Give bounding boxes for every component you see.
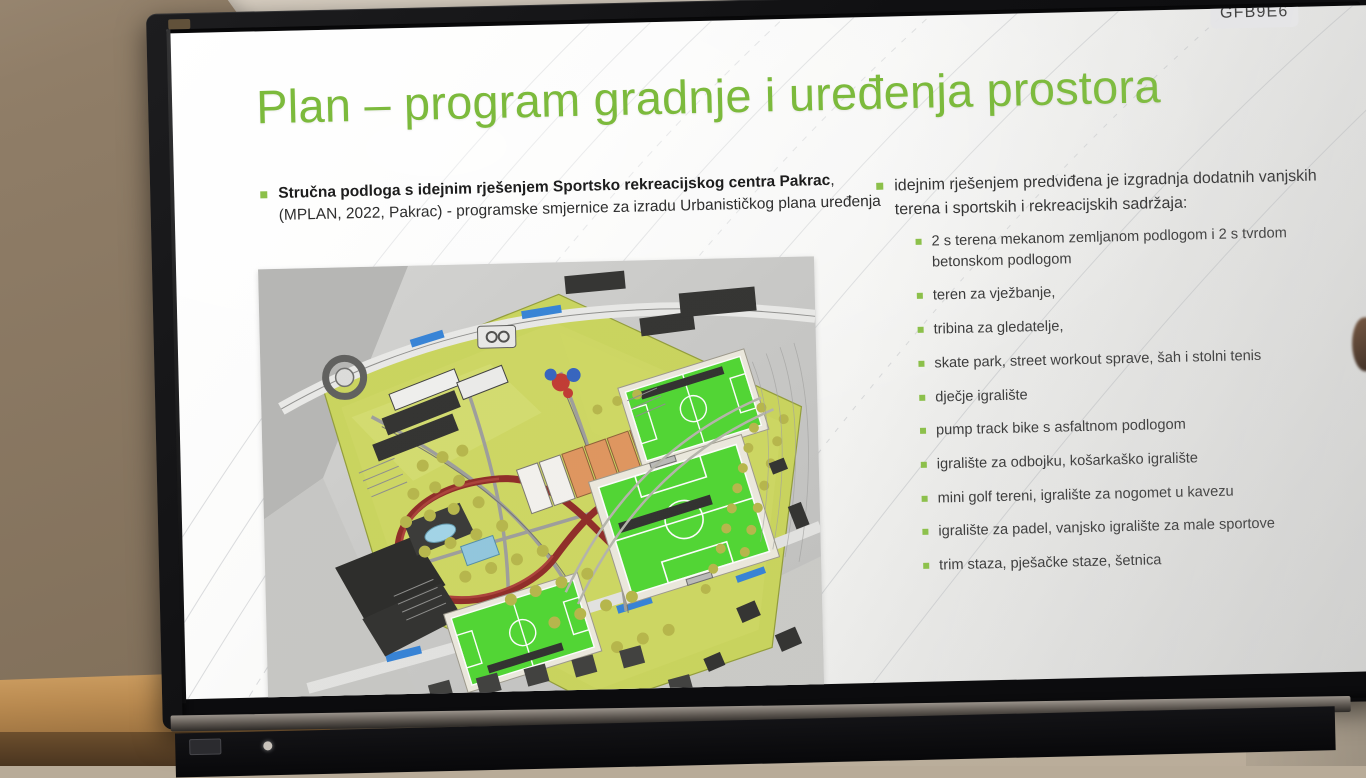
sub-bullet-text: mini golf tereni, igralište za nogomet u…	[937, 481, 1233, 509]
tv-port	[189, 738, 221, 755]
bullet-square-icon	[922, 495, 928, 501]
bullet-square-icon	[918, 361, 924, 367]
list-item: 2 s terena mekanom zemljanom podlogom i …	[915, 222, 1340, 273]
right-sub-bullet-list: 2 s terena mekanom zemljanom podlogom i …	[915, 222, 1347, 577]
presentation-slide: Plan – program gradnje i uređenja prosto…	[170, 5, 1366, 699]
list-item: tribina za gledatelje,	[917, 310, 1341, 341]
site-plan-image	[258, 256, 825, 699]
list-item: skate park, street workout sprave, šah i…	[918, 344, 1342, 375]
list-item: igralište za odbojku, košarkaško igrališ…	[921, 445, 1345, 476]
list-item: dječje igralište	[919, 377, 1343, 408]
bullet-square-icon	[260, 191, 267, 198]
tv-bezel-corner-mark	[168, 19, 190, 30]
bullet-square-icon	[876, 183, 883, 190]
sub-bullet-text: tribina za gledatelje,	[933, 317, 1063, 341]
sub-bullet-text: 2 s terena mekanom zemljanom podlogom i …	[931, 222, 1340, 273]
bullet-square-icon	[921, 462, 927, 468]
list-item: teren za vježbanje,	[917, 276, 1341, 307]
sub-bullet-text: igralište za padel, vanjsko igralište za…	[938, 514, 1275, 543]
bullet-square-icon	[917, 293, 923, 299]
list-item: trim staza, pješačke staze, šetnica	[923, 546, 1347, 577]
sub-bullet-text: teren za vježbanje,	[933, 283, 1056, 307]
list-item: pump track bike s asfaltnom podlogom	[920, 411, 1344, 442]
list-item: igralište za padel, vanjsko igralište za…	[922, 512, 1346, 543]
sub-bullet-text: pump track bike s asfaltnom podlogom	[936, 415, 1186, 442]
bullet-square-icon	[920, 428, 926, 434]
right-lead-bullet-text: idejnim rješenjem predviđena je izgradnj…	[894, 164, 1339, 222]
list-item: mini golf tereni, igralište za nogomet u…	[921, 479, 1345, 510]
right-column: idejnim rješenjem predviđena je izgradnj…	[876, 164, 1348, 591]
sub-bullet-text: skate park, street workout sprave, šah i…	[934, 346, 1261, 374]
bullet-square-icon	[923, 563, 929, 569]
right-lead-bullet: idejnim rješenjem predviđena je izgradnj…	[876, 164, 1339, 223]
television-display: Plan – program gradnje i uređenja prosto…	[146, 0, 1366, 752]
site-plan-drawing	[258, 256, 825, 699]
bullet-square-icon	[919, 394, 925, 400]
sub-bullet-text: trim staza, pješačke staze, šetnica	[939, 550, 1162, 576]
watermark-badge: GFB9E6	[1210, 5, 1299, 29]
watermark-badge-label: GFB9E6	[1220, 5, 1289, 22]
bullet-square-icon	[922, 529, 928, 535]
sub-bullet-text: igralište za odbojku, košarkaško igrališ…	[937, 448, 1199, 475]
sub-bullet-text: dječje igralište	[935, 385, 1028, 408]
bullet-square-icon	[918, 327, 924, 333]
bullet-square-icon	[916, 239, 922, 245]
